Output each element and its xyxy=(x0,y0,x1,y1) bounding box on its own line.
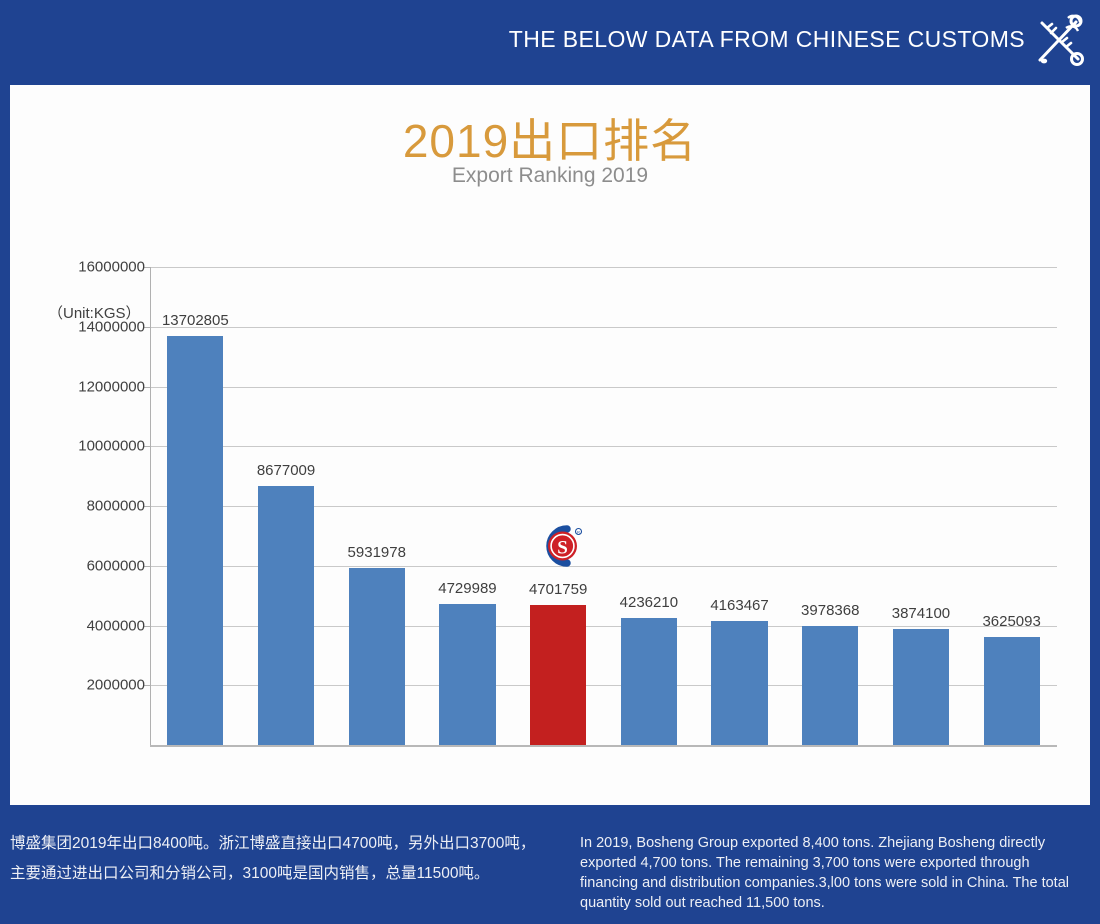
bar-value-label: 3625093 xyxy=(982,613,1040,630)
y-axis-tick-label: 8000000 xyxy=(87,498,145,515)
page-title: 2019出口排名 xyxy=(10,105,1090,171)
bar[interactable] xyxy=(621,618,677,745)
svg-text:R: R xyxy=(577,529,580,534)
bar[interactable] xyxy=(893,629,949,745)
y-axis-tick-label: 4000000 xyxy=(87,617,145,634)
bar[interactable] xyxy=(167,336,223,745)
bar-value-label: 5931978 xyxy=(348,544,406,561)
page-subtitle: Export Ranking 2019 xyxy=(10,164,1090,188)
x-axis-line xyxy=(150,745,1057,747)
svg-text:S: S xyxy=(557,537,568,558)
y-axis-tick xyxy=(144,446,151,447)
footer-text-english: In 2019, Bosheng Group exported 8,400 to… xyxy=(580,833,1080,913)
bar-value-label: 4163467 xyxy=(710,597,768,614)
gridline xyxy=(150,267,1057,268)
bar-value-label: 3978368 xyxy=(801,602,859,619)
bar-value-label: 4236210 xyxy=(620,594,678,611)
bar-value-label: 4701759 xyxy=(529,581,587,598)
chinese-customs-emblem-icon xyxy=(1032,12,1088,68)
bar-value-label: 8677009 xyxy=(257,462,315,479)
footer-bar: 博盛集团2019年出口8400吨。浙江博盛直接出口4700吨，另外出口3700吨… xyxy=(0,805,1100,924)
header-bar: THE BELOW DATA FROM CHINESE CUSTOMS xyxy=(0,0,1100,85)
bar[interactable] xyxy=(802,626,858,745)
bar-value-label: 13702805 xyxy=(162,312,229,329)
y-axis-tick xyxy=(144,626,151,627)
y-axis-tick xyxy=(144,506,151,507)
bar-value-label: 4729989 xyxy=(438,580,496,597)
y-axis-tick-label: 2000000 xyxy=(87,677,145,694)
bosheng-company-logo-icon: S R xyxy=(531,525,585,567)
y-axis-tick xyxy=(144,566,151,567)
y-axis-tick xyxy=(144,685,151,686)
bar-chart-plot: 1600000014000000120000001000000080000006… xyxy=(150,267,1057,745)
y-axis-tick xyxy=(144,267,151,268)
gridline xyxy=(150,446,1057,447)
y-axis-tick-label: 14000000 xyxy=(78,318,145,335)
y-axis-tick-label: 6000000 xyxy=(87,557,145,574)
bar[interactable] xyxy=(349,568,405,745)
bar[interactable] xyxy=(711,621,767,745)
chart-panel: 2019出口排名 Export Ranking 2019 （Unit:KGS） … xyxy=(10,85,1090,805)
header-title: THE BELOW DATA FROM CHINESE CUSTOMS xyxy=(509,26,1025,53)
y-axis-tick-label: 12000000 xyxy=(78,378,145,395)
bar-value-label: 3874100 xyxy=(892,605,950,622)
footer-text-chinese: 博盛集团2019年出口8400吨。浙江博盛直接出口4700吨，另外出口3700吨… xyxy=(10,829,540,889)
bar[interactable] xyxy=(984,637,1040,745)
gridline xyxy=(150,327,1057,328)
y-axis-tick-label: 10000000 xyxy=(78,438,145,455)
bar[interactable] xyxy=(439,604,495,745)
y-axis-tick xyxy=(144,327,151,328)
bar[interactable] xyxy=(258,486,314,745)
y-axis-tick-label: 16000000 xyxy=(78,259,145,276)
y-axis-tick xyxy=(144,387,151,388)
gridline xyxy=(150,387,1057,388)
bar[interactable] xyxy=(530,605,586,745)
